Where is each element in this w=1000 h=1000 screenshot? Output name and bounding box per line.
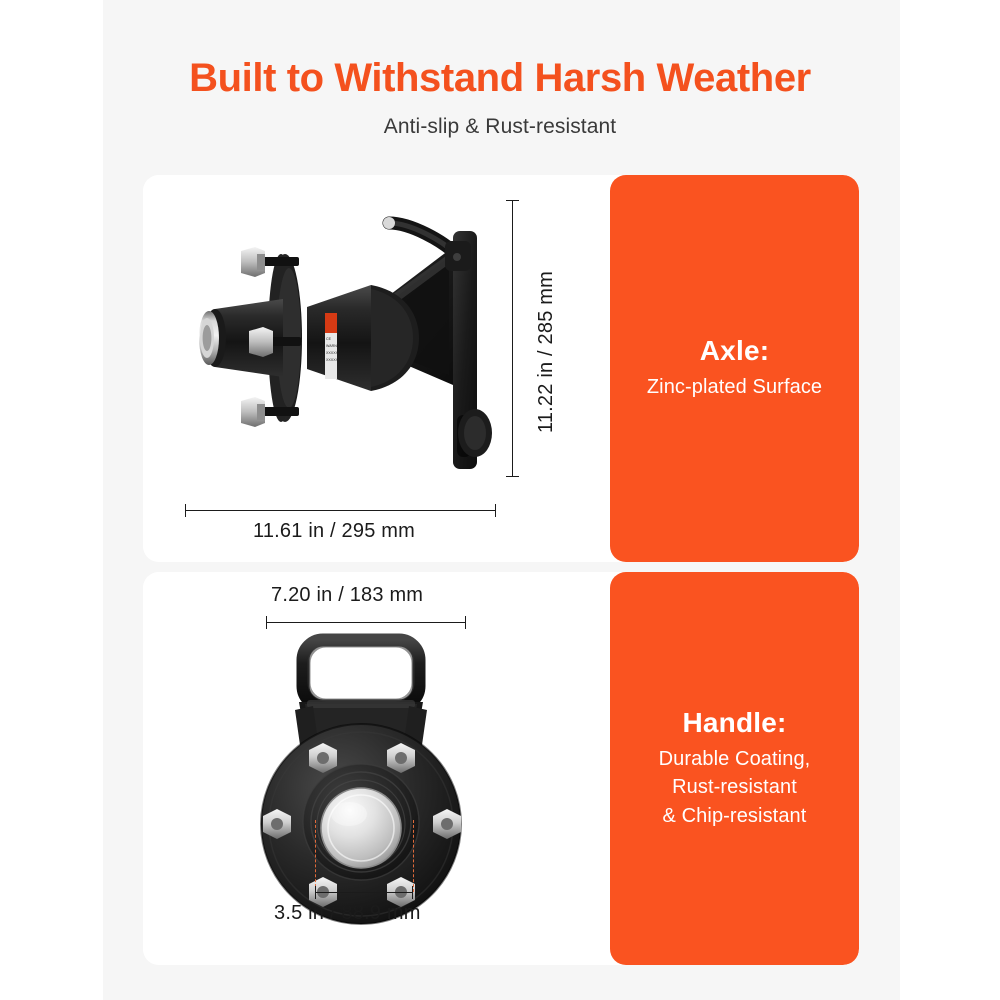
dim-line [266,622,466,623]
handle-info-panel: Handle: Durable Coating, Rust-resistant … [610,572,859,965]
dim-end-cap-right [495,504,496,517]
infographic-page: Built to Withstand Harsh Weather Anti-sl… [0,0,1000,1000]
header: Built to Withstand Harsh Weather Anti-sl… [0,0,1000,139]
page-subtitle: Anti-slip & Rust-resistant [0,115,1000,139]
handle-info-line-3: & Chip-resistant [663,802,807,830]
svg-text:WARN: WARN [326,344,337,348]
feature-card-handle: 7.20 in / 183 mm 3.5 in / 88.9 mm Handle… [143,572,859,965]
handle-info-line-1: Durable Coating, [659,745,811,773]
svg-text:XXXXX: XXXXX [326,358,339,362]
dim-line [512,200,513,476]
axle-info-heading: Axle: [700,335,769,367]
axle-figure-panel: CE WARN XXXXX XXXXX [143,175,610,562]
feature-card-axle: CE WARN XXXXX XXXXX [143,175,859,562]
axle-product-image: CE WARN XXXXX XXXXX [157,185,557,485]
dim-end-cap-right [465,616,466,629]
dim-end-cap-top [506,200,519,201]
svg-text:XXXXX: XXXXX [326,351,339,355]
dim-end-cap-left [266,616,267,629]
dim-end-cap-right [412,886,413,899]
dim-line [185,510,496,511]
dim-label-hub-diameter: 7.20 in / 183 mm [271,584,423,607]
handle-info-heading: Handle: [682,707,786,739]
axle-info-panel: Axle: Zinc-plated Surface [610,175,859,562]
page-title: Built to Withstand Harsh Weather [0,56,1000,101]
dim-extension-left [315,820,316,892]
dim-end-cap-left [185,504,186,517]
dim-label-axle-height: 11.22 in / 285 mm [535,271,558,433]
axle-info-line-1: Zinc-plated Surface [647,373,822,401]
handle-figure-panel: 7.20 in / 183 mm 3.5 in / 88.9 mm [143,572,610,965]
dim-end-cap-bottom [506,476,519,477]
dim-label-bolt-pattern: 3.5 in / 88.9 mm [274,902,421,925]
dim-label-axle-width: 11.61 in / 295 mm [253,520,415,543]
handle-info-line-2: Rust-resistant [672,773,797,801]
dim-extension-right [413,820,414,892]
svg-text:CE: CE [326,337,332,341]
dim-line [315,892,413,893]
dim-end-cap-left [315,886,316,899]
